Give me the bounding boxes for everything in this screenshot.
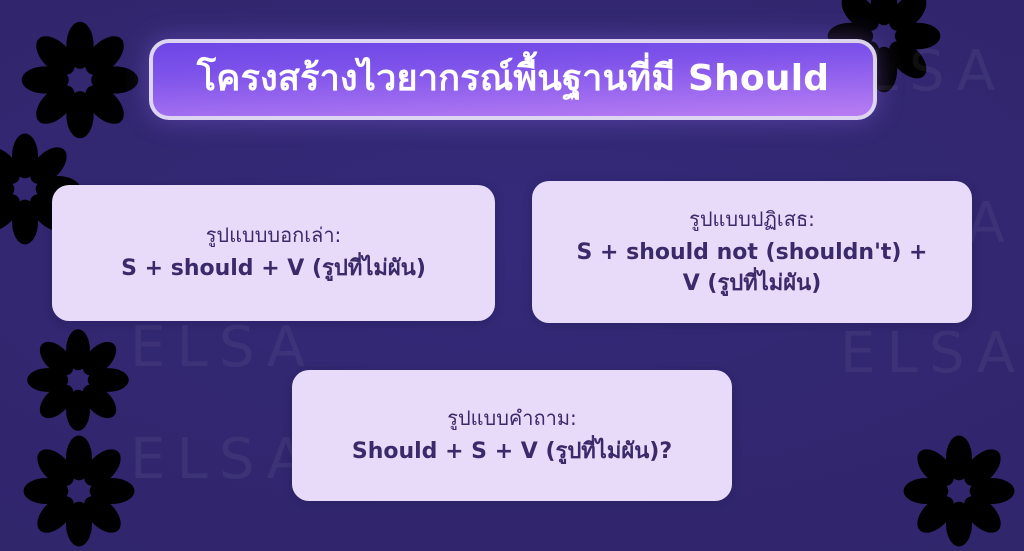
brand-watermark: ELSA	[130, 432, 316, 488]
card-affirmative-label: รูปแบบบอกเล่า:	[206, 221, 342, 250]
card-negative-formula-line-1: S + should not (shouldn't) +	[577, 237, 928, 268]
card-negative-formula-line-2: V (รูปที่ไม่ผัน)	[683, 268, 822, 299]
eight-petal-star-icon	[900, 432, 1018, 550]
slide-canvas: ELSA ELSA ELSA ELSA ELSA โครงสร้างไวยากร…	[0, 0, 1024, 551]
brand-watermark: ELSA	[130, 320, 316, 376]
slide-title-pill: โครงสร้างไวยากรณ์พื้นฐานที่มี Should	[149, 39, 877, 120]
eight-petal-star-icon	[24, 326, 132, 434]
slide-title-pill-inner: โครงสร้างไวยากรณ์พื้นฐานที่มี Should	[153, 43, 873, 116]
eight-petal-star-icon	[20, 432, 138, 550]
card-negative-label: รูปแบบปฏิเสธ:	[689, 205, 815, 234]
brand-watermark: ELSA	[840, 326, 1024, 382]
card-question-form: รูปแบบคำถาม: Should + S + V (รูปที่ไม่ผั…	[292, 370, 732, 501]
card-affirmative-form: รูปแบบบอกเล่า: S + should + V (รูปที่ไม่…	[52, 185, 495, 321]
card-question-formula: Should + S + V (รูปที่ไม่ผัน)?	[352, 436, 672, 467]
card-affirmative-formula: S + should + V (รูปที่ไม่ผัน)	[121, 253, 426, 284]
page-title: โครงสร้างไวยากรณ์พื้นฐานที่มี Should	[197, 60, 829, 100]
eight-petal-star-icon	[18, 18, 142, 142]
card-negative-form: รูปแบบปฏิเสธ: S + should not (shouldn't)…	[532, 181, 972, 323]
card-question-label: รูปแบบคำถาม:	[447, 404, 577, 433]
